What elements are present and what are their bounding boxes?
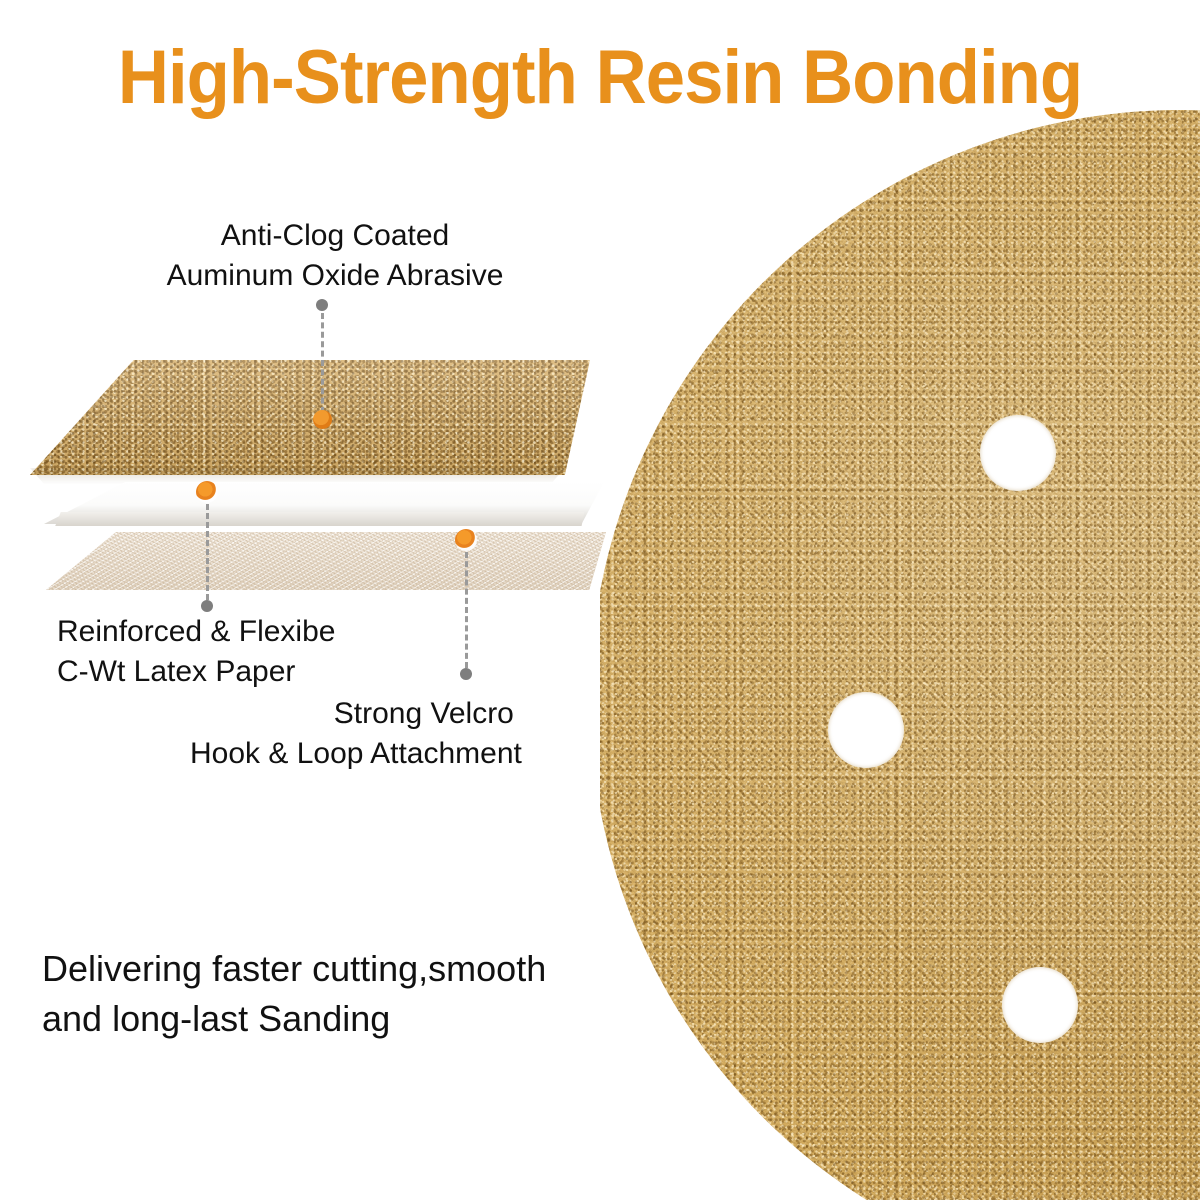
callout-velcro-marker — [455, 529, 477, 551]
layer-abrasive-shadow — [30, 468, 590, 484]
product-infographic: High-Strength Resin Bonding Anti-Clog Co… — [0, 0, 1200, 1200]
disc-hole — [828, 692, 904, 768]
layer-hook-loop-backing — [46, 532, 606, 590]
callout-paper-label-line1: Reinforced & Flexibe — [57, 612, 335, 652]
layer-abrasive-grain — [30, 360, 590, 475]
layer-stack-diagram — [30, 360, 620, 590]
callout-velcro-label-line1: Strong Velcro — [190, 694, 522, 734]
sanding-disc-surface — [600, 110, 1200, 1200]
callout-abrasive-label-line2: Auminum Oxide Abrasive — [150, 256, 520, 296]
tagline: Delivering faster cutting,smooth and lon… — [42, 944, 546, 1044]
disc-hole — [980, 415, 1056, 491]
callout-paper-label: Reinforced & Flexibe C-Wt Latex Paper — [57, 612, 335, 692]
callout-abrasive-marker — [313, 410, 332, 429]
tagline-line2: and long-last Sanding — [42, 994, 546, 1044]
disc-grit-texture-overlay — [600, 110, 1200, 1200]
callout-velcro-leader — [465, 552, 468, 668]
callout-paper-marker — [196, 481, 218, 503]
page-title: High-Strength Resin Bonding — [42, 34, 1158, 121]
callout-paper-leader — [206, 504, 209, 600]
callout-abrasive-endpoint — [316, 299, 328, 311]
callout-velcro-label: Strong Velcro Hook & Loop Attachment — [190, 694, 522, 774]
callout-velcro-endpoint — [460, 668, 472, 680]
callout-abrasive-label: Anti-Clog Coated Auminum Oxide Abrasive — [150, 216, 520, 296]
callout-paper-label-line2: C-Wt Latex Paper — [57, 652, 335, 692]
callout-abrasive-label-line1: Anti-Clog Coated — [150, 216, 520, 256]
callout-velcro-label-line2: Hook & Loop Attachment — [190, 734, 522, 774]
callout-paper-endpoint — [201, 600, 213, 612]
sanding-disc-illustration — [600, 110, 1200, 1200]
callout-abrasive-leader — [321, 313, 324, 413]
layer-latex-paper-edge — [44, 512, 604, 526]
disc-hole — [1002, 967, 1078, 1043]
tagline-line1: Delivering faster cutting,smooth — [42, 944, 546, 994]
